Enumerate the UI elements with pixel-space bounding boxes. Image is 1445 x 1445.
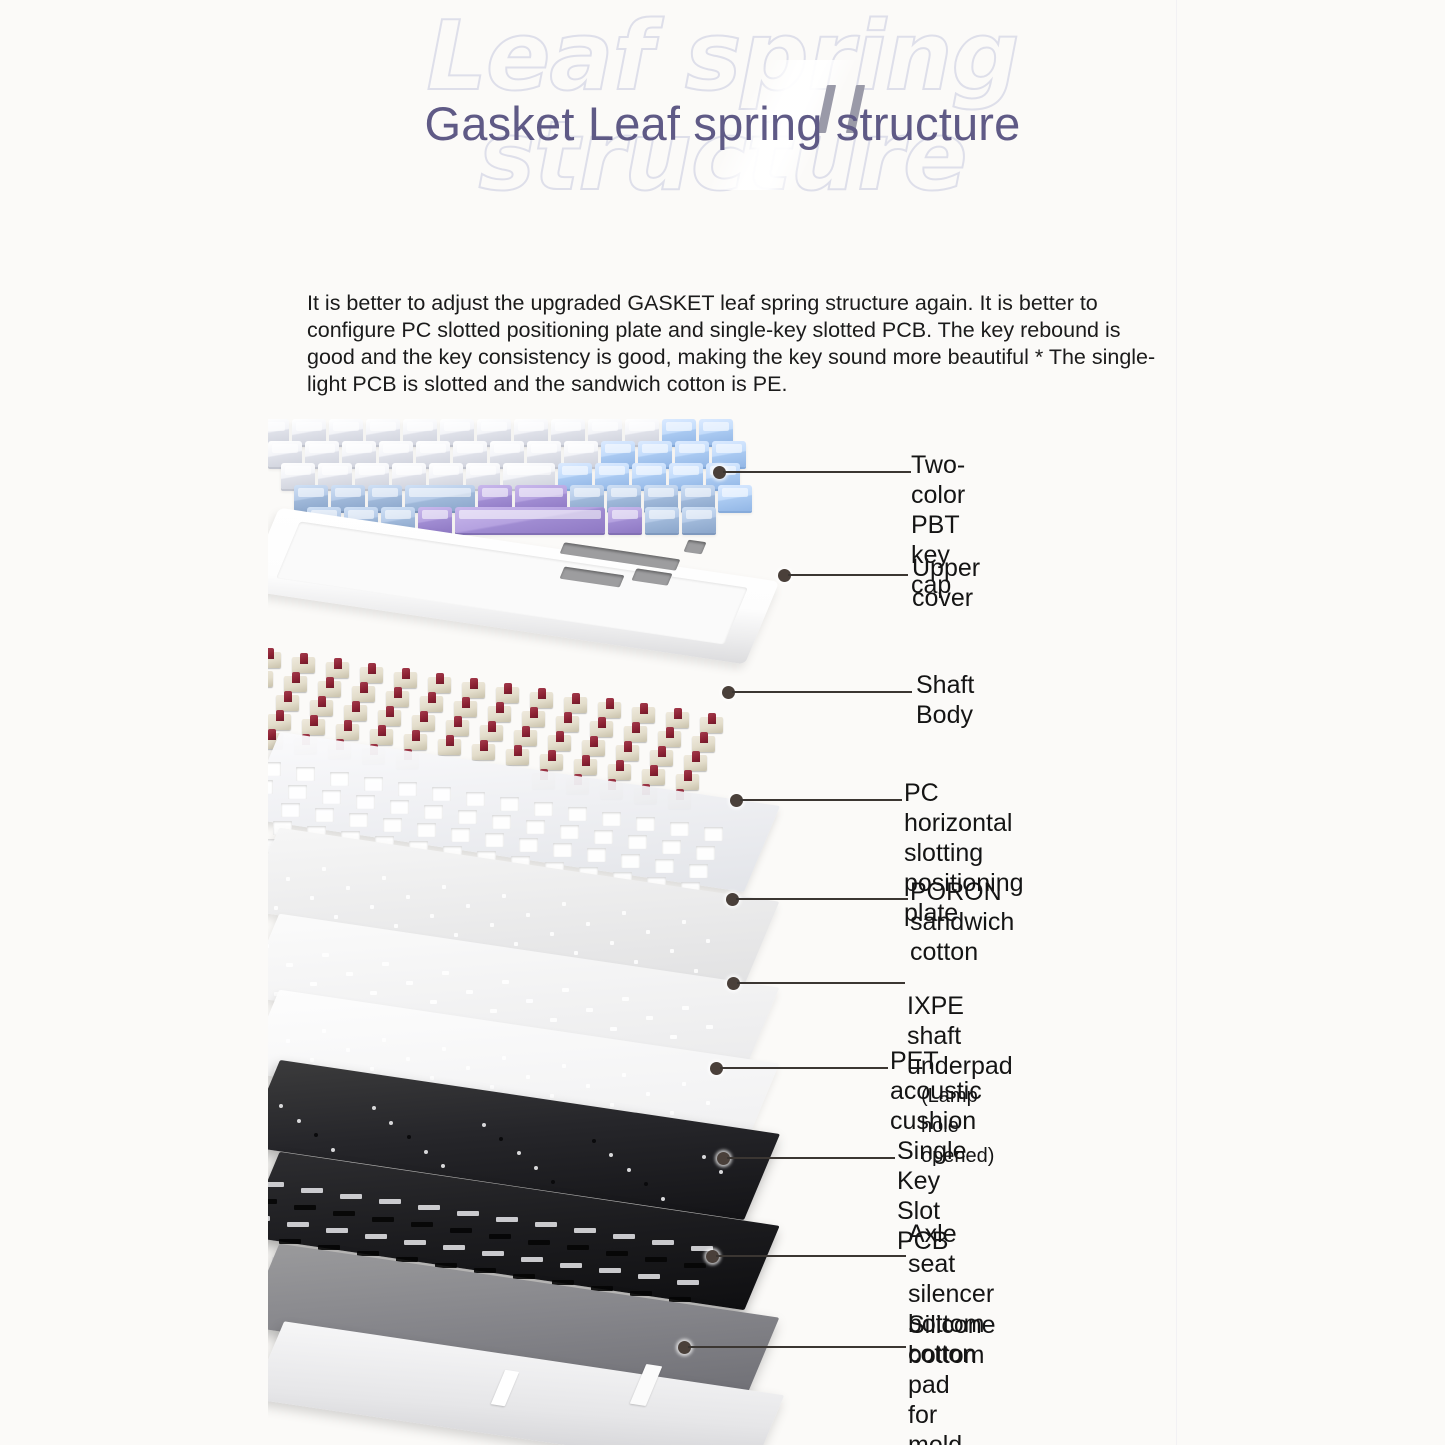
plate-cutout — [330, 772, 349, 786]
switch-body — [564, 693, 587, 713]
pcb-via — [279, 1104, 283, 1108]
layer-upper-cover — [262, 528, 782, 658]
foam-perforation — [706, 939, 710, 943]
foam-perforation — [466, 904, 470, 908]
cotton-slot — [606, 1251, 628, 1256]
foam-perforation — [490, 923, 494, 927]
plate-cutout — [594, 830, 613, 844]
plate-cutout — [349, 813, 368, 827]
switch-body — [548, 731, 571, 751]
foam-perforation — [322, 867, 326, 871]
switch-body — [310, 696, 333, 716]
foam-perforation — [310, 1058, 314, 1062]
switch-body — [352, 682, 375, 702]
foam-perforation — [430, 1076, 434, 1080]
switch-body — [480, 721, 503, 741]
switch-body — [268, 710, 291, 730]
switch-body — [386, 687, 409, 707]
switch-body — [276, 691, 299, 711]
foam-perforation — [370, 905, 374, 909]
foam-perforation — [382, 962, 389, 966]
pcb-via — [719, 1170, 723, 1174]
plate-cutout — [424, 805, 443, 819]
cotton-slot — [301, 1188, 323, 1193]
cotton-slot — [574, 1228, 596, 1233]
foam-perforation — [286, 1039, 290, 1043]
callout-line-shaft-body — [732, 691, 912, 693]
callout-line-keycap — [723, 471, 911, 473]
pcb-via — [702, 1155, 706, 1159]
foam-perforation — [526, 999, 533, 1003]
foam-perforation — [526, 1075, 530, 1079]
foam-perforation — [370, 1067, 374, 1071]
foam-perforation — [334, 915, 338, 919]
foam-perforation — [562, 988, 569, 992]
plate-cutout — [670, 822, 689, 836]
foam-perforation — [286, 877, 290, 881]
foam-perforation — [562, 1064, 566, 1068]
plate-cutout — [519, 838, 538, 852]
foam-perforation — [490, 1085, 494, 1089]
foam-perforation — [346, 972, 353, 976]
callout-label-poron: PORON sandwich cotton — [910, 877, 1014, 967]
pcb-via — [499, 1137, 503, 1141]
switch-body — [394, 668, 417, 688]
callout-label-silicone: Silicone bottom pad for mold opening — [908, 1310, 997, 1445]
plate-cutout — [636, 817, 655, 831]
foam-perforation — [622, 997, 629, 1001]
callout-line-poron — [736, 898, 908, 900]
infographic-page: Leaf spring structure Gasket Leaf spring… — [0, 0, 1445, 1445]
foam-perforation — [442, 971, 449, 975]
plate-cutout — [628, 835, 647, 849]
cotton-slot — [652, 1240, 674, 1245]
plate-cutout — [315, 808, 334, 822]
callout-line-pc-plate — [740, 799, 902, 801]
plate-cutout — [417, 823, 436, 837]
foam-perforation — [562, 902, 566, 906]
plate-cutout — [553, 843, 572, 857]
cotton-slot — [482, 1251, 504, 1256]
cotton-slot — [528, 1240, 550, 1245]
plate-cutout — [356, 795, 375, 809]
pcb-via — [609, 1153, 613, 1157]
switch-body — [700, 713, 723, 733]
cotton-slot — [326, 1228, 348, 1233]
pcb-via — [389, 1121, 393, 1125]
cotton-slot — [645, 1257, 667, 1262]
foam-perforation — [310, 896, 314, 900]
plate-cutout — [383, 818, 402, 832]
foam-perforation — [622, 1073, 626, 1077]
pcb-via — [534, 1166, 538, 1170]
foam-perforation — [682, 1006, 689, 1010]
foam-perforation — [322, 953, 329, 957]
switch-body — [344, 701, 367, 721]
switch-body — [496, 683, 519, 703]
callout-label-pet: PET acoustic cushion — [890, 1046, 982, 1136]
pcb-via — [372, 1106, 376, 1110]
switch-body — [522, 707, 545, 727]
foam-perforation — [394, 924, 398, 928]
cotton-slot — [489, 1234, 511, 1239]
foam-perforation — [322, 1029, 326, 1033]
switch-body — [438, 735, 461, 755]
switch-body — [692, 732, 715, 752]
foam-perforation — [682, 920, 686, 924]
foam-perforation — [550, 932, 554, 936]
foam-perforation — [274, 906, 278, 910]
cotton-slot — [418, 1205, 440, 1210]
switch-body — [530, 688, 553, 708]
switch-body — [292, 653, 315, 673]
foam-perforation — [502, 894, 506, 898]
exploded-keyboard-diagram — [0, 0, 1445, 1445]
pcb-via — [314, 1133, 318, 1137]
switch-body — [378, 706, 401, 726]
switch-body — [666, 708, 689, 728]
pcb-via — [331, 1148, 335, 1152]
foam-perforation — [502, 980, 509, 984]
foam-perforation — [646, 930, 650, 934]
foam-perforation — [586, 1008, 593, 1012]
callout-label-upper-cover: Upper cover — [912, 553, 980, 613]
plate-cutout — [458, 810, 477, 824]
plate-cutout — [602, 812, 621, 826]
callout-line-pet — [720, 1067, 888, 1069]
plate-cutout — [432, 787, 451, 801]
pcb-via — [407, 1135, 411, 1139]
cotton-slot — [599, 1268, 621, 1273]
plate-cutout — [466, 792, 485, 806]
switch-body — [302, 715, 325, 735]
foam-perforation — [442, 1047, 446, 1051]
foam-perforation — [682, 1082, 686, 1086]
switch-body — [428, 673, 451, 693]
foam-perforation — [490, 1009, 497, 1013]
plate-cutout — [281, 803, 300, 817]
switch-body — [590, 717, 613, 737]
plate-cutout — [485, 833, 504, 847]
plate-cutout — [526, 820, 545, 834]
switch-body — [616, 741, 639, 761]
plate-cutout — [560, 825, 579, 839]
callout-label-shaft-body: Shaft Body — [916, 670, 974, 730]
foam-perforation — [382, 1038, 386, 1042]
switch-body — [632, 703, 655, 723]
switch-body — [360, 663, 383, 683]
cotton-slot — [333, 1211, 355, 1216]
plate-cutout — [364, 777, 383, 791]
description-paragraph: It is better to adjust the upgraded GASK… — [307, 290, 1165, 398]
switch-body — [412, 711, 435, 731]
foam-perforation — [406, 1057, 410, 1061]
cotton-slot — [613, 1234, 635, 1239]
switch-body — [462, 678, 485, 698]
plate-cutout — [500, 797, 519, 811]
switch-body — [326, 658, 349, 678]
cotton-slot — [567, 1245, 589, 1250]
plate-cutout — [322, 790, 341, 804]
switch-body — [624, 722, 647, 742]
cotton-slot — [404, 1240, 426, 1245]
switch-body — [598, 698, 621, 718]
foam-perforation — [310, 982, 317, 986]
switch-body — [514, 726, 537, 746]
cotton-slot — [365, 1234, 387, 1239]
foam-perforation — [430, 914, 434, 918]
plate-cutout — [398, 782, 417, 796]
foam-perforation — [502, 1056, 506, 1060]
cotton-slot — [560, 1263, 582, 1268]
switch-body — [284, 672, 307, 692]
layer-bottom-case — [268, 1352, 808, 1445]
foam-perforation — [382, 876, 386, 880]
cotton-slot — [411, 1222, 433, 1227]
plate-cutout — [534, 802, 553, 816]
foam-perforation — [406, 895, 410, 899]
pcb-via — [627, 1168, 631, 1172]
callout-line-ixpe — [737, 982, 905, 984]
pcb-via — [482, 1123, 486, 1127]
foam-perforation — [430, 1000, 437, 1004]
plate-cutout — [451, 828, 470, 842]
callout-line-silicone — [688, 1346, 906, 1348]
pcb-via — [424, 1150, 428, 1154]
plate-cutout — [492, 815, 511, 829]
cotton-slot — [450, 1228, 472, 1233]
callout-line-upper-cover — [788, 574, 908, 576]
foam-perforation — [586, 922, 590, 926]
switch-body — [446, 716, 469, 736]
switch-body — [318, 677, 341, 697]
cotton-slot — [496, 1217, 518, 1222]
foam-perforation — [346, 1048, 350, 1052]
switch-body — [454, 697, 477, 717]
foam-perforation — [454, 933, 458, 937]
cotton-slot — [684, 1263, 706, 1268]
foam-perforation — [586, 1084, 590, 1088]
pcb-via — [297, 1119, 301, 1123]
switch-body — [336, 720, 359, 740]
cotton-slot — [521, 1257, 543, 1262]
plate-cutout — [296, 767, 315, 781]
plate-cutout — [704, 827, 723, 841]
cotton-slot — [535, 1222, 557, 1227]
foam-perforation — [406, 981, 413, 985]
switch-body — [582, 736, 605, 756]
plate-cutout — [568, 807, 587, 821]
foam-perforation — [442, 885, 446, 889]
cotton-slot — [379, 1199, 401, 1204]
plate-cutout — [288, 785, 307, 799]
cotton-slot — [457, 1211, 479, 1216]
switch-body — [658, 727, 681, 747]
switch-body — [370, 725, 393, 745]
cotton-slot — [443, 1245, 465, 1250]
switch-body — [404, 730, 427, 750]
pcb-via — [592, 1139, 596, 1143]
pcb-via — [517, 1151, 521, 1155]
callout-line-axle-cotton — [716, 1255, 906, 1257]
foam-perforation — [526, 913, 530, 917]
pcb-via — [441, 1164, 445, 1168]
foam-perforation — [466, 1066, 470, 1070]
cotton-slot — [294, 1205, 316, 1210]
foam-perforation — [286, 963, 293, 967]
foam-perforation — [370, 991, 377, 995]
left-crop-mask — [0, 0, 268, 1445]
switch-body — [488, 702, 511, 722]
switch-body — [420, 692, 443, 712]
switch-body — [472, 740, 495, 760]
foam-perforation — [346, 886, 350, 890]
foam-perforation — [466, 990, 473, 994]
plate-cutout — [662, 840, 681, 854]
cotton-slot — [372, 1217, 394, 1222]
callout-line-pcb — [727, 1157, 895, 1159]
cotton-slot — [287, 1222, 309, 1227]
cotton-slot — [340, 1194, 362, 1199]
plate-cutout — [390, 800, 409, 814]
switch-body — [556, 712, 579, 732]
foam-perforation — [622, 911, 626, 915]
